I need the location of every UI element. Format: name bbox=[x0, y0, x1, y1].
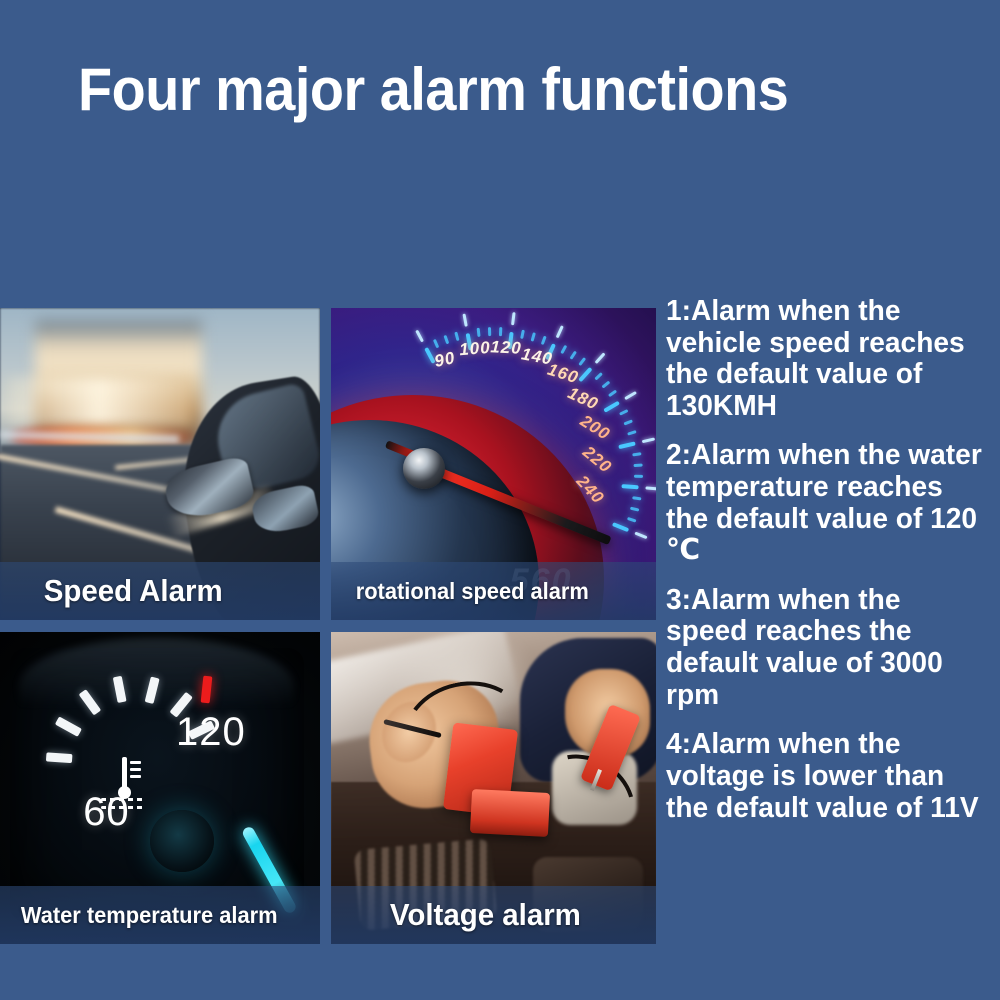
caption-rotational-speed-alarm: rotational speed alarm bbox=[331, 578, 589, 605]
alarm-item-2: 2:Alarm when the water temperature reach… bbox=[666, 440, 986, 566]
tile-voltage-alarm[interactable]: Voltage alarm bbox=[331, 632, 656, 944]
speedometer-label-90: 90 bbox=[432, 348, 457, 372]
caption-speed-alarm: Speed Alarm bbox=[0, 573, 223, 609]
temperature-label-60: 60 bbox=[83, 790, 130, 835]
caption-band-water-temperature-alarm: Water temperature alarm bbox=[0, 886, 320, 944]
speedometer-label-100: 100 bbox=[458, 338, 491, 360]
speedometer-hub bbox=[403, 448, 445, 489]
caption-band-voltage-alarm: Voltage alarm bbox=[331, 886, 656, 944]
speedometer-label-120: 120 bbox=[490, 337, 522, 359]
caption-water-temperature-alarm: Water temperature alarm bbox=[0, 902, 278, 929]
temperature-label-120: 120 bbox=[176, 710, 246, 755]
caption-band-rotational-speed-alarm: rotational speed alarm bbox=[331, 562, 656, 620]
caption-voltage-alarm: Voltage alarm bbox=[331, 897, 581, 933]
tile-rotational-speed-alarm[interactable]: 90100120140160180200220240 560 rotationa… bbox=[331, 308, 656, 620]
tile-water-temperature-alarm[interactable]: 120 60 Water temperature alarm bbox=[0, 632, 320, 944]
page-title: Four major alarm functions bbox=[78, 58, 878, 121]
alarm-item-4: 4:Alarm when the voltage is lower than t… bbox=[666, 729, 986, 824]
feature-image-grid: Speed Alarm 90100120140160180200220240 5… bbox=[0, 308, 658, 944]
alarm-item-1: 1:Alarm when the vehicle speed reaches t… bbox=[666, 296, 986, 422]
alarm-description-list: 1:Alarm when the vehicle speed reaches t… bbox=[666, 296, 996, 842]
alarm-item-3: 3:Alarm when the speed reaches the defau… bbox=[666, 585, 986, 711]
tile-speed-alarm[interactable]: Speed Alarm bbox=[0, 308, 320, 620]
caption-band-speed-alarm: Speed Alarm bbox=[0, 562, 320, 620]
